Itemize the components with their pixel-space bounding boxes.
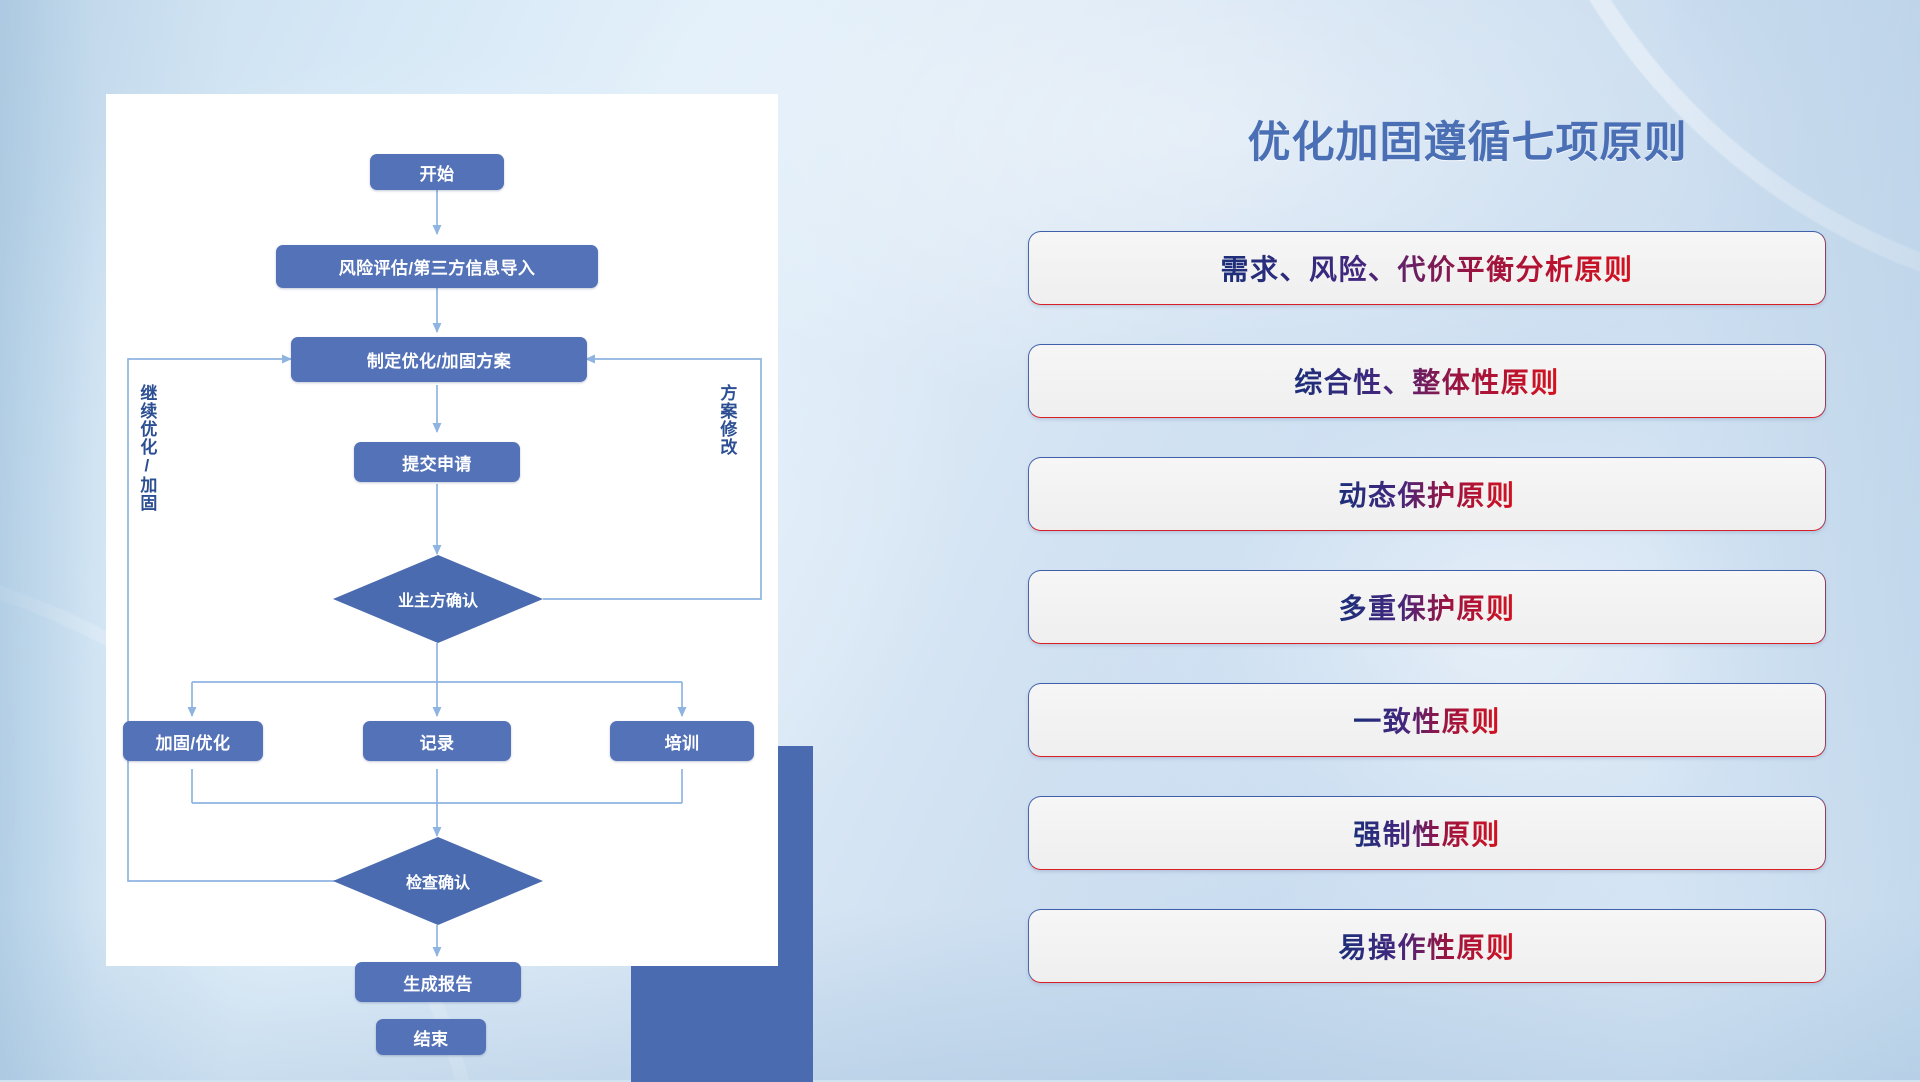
flow-node-label: 制定优化/加固方案 [367, 347, 511, 372]
principle-label: 一致性原则 [1353, 700, 1501, 740]
principle-label: 强制性原则 [1353, 813, 1501, 853]
principle-label: 动态保护原则 [1338, 474, 1515, 514]
flow-loop-label-right: 方案修改 [718, 384, 735, 524]
flow-loop-label-left: 继续优化/加固 [138, 384, 155, 554]
flow-node-label: 开始 [420, 160, 455, 185]
principle-label: 综合性、整体性原则 [1294, 361, 1560, 401]
flow-node-reinforce-optimize[interactable]: 加固/优化 [123, 721, 263, 761]
principle-label: 多重保护原则 [1338, 587, 1515, 627]
flow-node-label: 业主方确认 [398, 587, 478, 611]
principle-card-1[interactable]: 需求、风险、代价平衡分析原则 [1028, 231, 1826, 305]
principles-list: 需求、风险、代价平衡分析原则 综合性、整体性原则 动态保护原则 多重保护原则 一… [1028, 231, 1826, 983]
flow-node-submit-application[interactable]: 提交申请 [354, 442, 520, 482]
flow-node-end-visible[interactable]: 结束 [376, 1019, 486, 1055]
flowchart-panel: 开始 风险评估/第三方信息导入 制定优化/加固方案 提交申请 业主方确认 加固/… [106, 94, 786, 994]
principle-card-5[interactable]: 一致性原则 [1028, 683, 1826, 757]
page-title: 优化加固遵循七项原则 [1015, 108, 1920, 170]
flow-node-start[interactable]: 开始 [370, 154, 504, 190]
flow-node-label: 提交申请 [402, 450, 472, 475]
flow-node-label: 加固/优化 [156, 729, 231, 754]
flowchart-card: 开始 风险评估/第三方信息导入 制定优化/加固方案 提交申请 业主方确认 加固/… [106, 94, 778, 966]
flowchart-connectors [106, 94, 778, 966]
principle-card-6[interactable]: 强制性原则 [1028, 796, 1826, 870]
principle-card-7[interactable]: 易操作性原则 [1028, 909, 1826, 983]
principle-card-4[interactable]: 多重保护原则 [1028, 570, 1826, 644]
flow-node-risk-assessment[interactable]: 风险评估/第三方信息导入 [276, 245, 598, 288]
flow-node-label: 记录 [420, 729, 455, 754]
flow-node-label: 检查确认 [406, 869, 470, 893]
principle-card-2[interactable]: 综合性、整体性原则 [1028, 344, 1826, 418]
flow-node-label: 风险评估/第三方信息导入 [339, 254, 536, 279]
flow-node-label: 培训 [665, 729, 700, 754]
principle-label: 易操作性原则 [1338, 926, 1515, 966]
flow-node-generate-report[interactable]: 生成报告 [355, 962, 521, 1002]
flow-node-record[interactable]: 记录 [363, 721, 511, 761]
principle-label: 需求、风险、代价平衡分析原则 [1220, 248, 1633, 288]
flow-node-label: 结束 [414, 1025, 449, 1050]
principles-panel: 优化加固遵循七项原则 需求、风险、代价平衡分析原则 综合性、整体性原则 动态保护… [1015, 0, 1920, 1080]
flow-node-label: 生成报告 [403, 970, 473, 995]
flow-node-training[interactable]: 培训 [610, 721, 754, 761]
principle-card-3[interactable]: 动态保护原则 [1028, 457, 1826, 531]
flow-node-make-plan[interactable]: 制定优化/加固方案 [291, 337, 587, 382]
